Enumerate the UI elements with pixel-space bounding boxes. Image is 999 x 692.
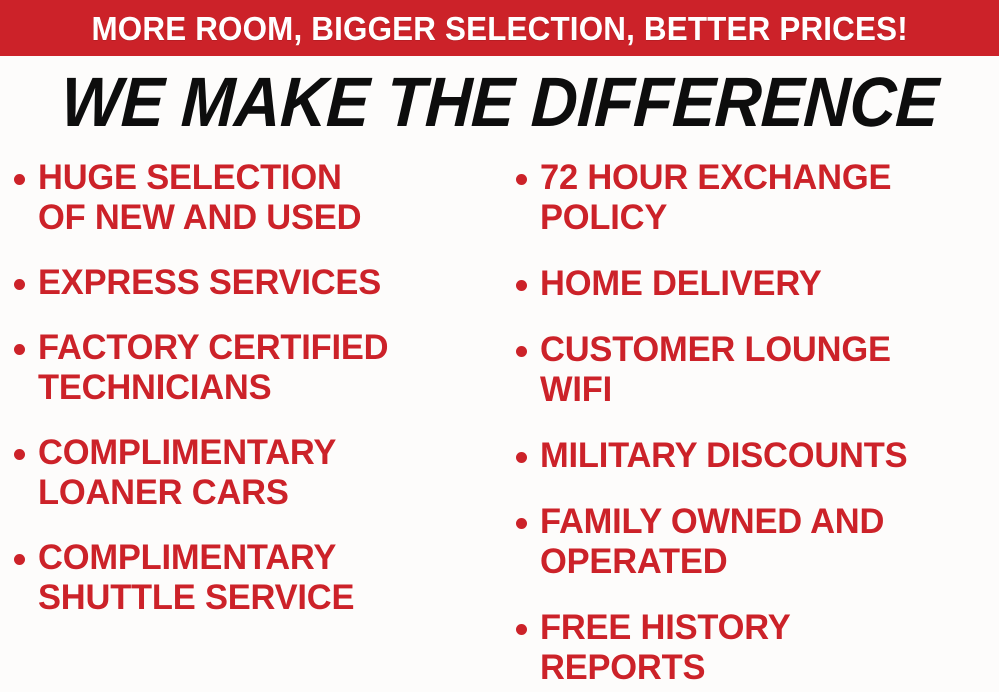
dealership-promo-poster: MORE ROOM, BIGGER SELECTION, BETTER PRIC… bbox=[0, 0, 999, 692]
list-item: COMPLIMENTARY SHUTTLE SERVICE bbox=[14, 538, 498, 618]
banner-headline-text: MORE ROOM, BIGGER SELECTION, BETTER PRIC… bbox=[91, 12, 907, 45]
list-item-label: EXPRESS SERVICES bbox=[38, 263, 381, 303]
list-item-label: FREE HISTORY REPORTS bbox=[540, 608, 790, 688]
main-headline: WE MAKE THE DIFFERENCE bbox=[59, 67, 940, 137]
benefits-columns: HUGE SELECTION OF NEW AND USED EXPRESS S… bbox=[0, 158, 999, 692]
bullet-dot-icon bbox=[14, 449, 25, 460]
list-item-label: COMPLIMENTARY SHUTTLE SERVICE bbox=[38, 538, 354, 618]
bullet-dot-icon bbox=[14, 344, 25, 355]
bullet-dot-icon bbox=[14, 554, 25, 565]
bullet-dot-icon bbox=[516, 624, 527, 635]
list-item-label: COMPLIMENTARY LOANER CARS bbox=[38, 433, 336, 513]
list-item: 72 HOUR EXCHANGE POLICY bbox=[516, 158, 999, 238]
benefits-column-left: HUGE SELECTION OF NEW AND USED EXPRESS S… bbox=[0, 158, 500, 643]
top-banner: MORE ROOM, BIGGER SELECTION, BETTER PRIC… bbox=[0, 0, 999, 56]
list-item: CUSTOMER LOUNGE WIFI bbox=[516, 330, 999, 410]
list-item: HOME DELIVERY bbox=[516, 264, 999, 304]
main-headline-container: WE MAKE THE DIFFERENCE bbox=[0, 62, 999, 142]
list-item: FREE HISTORY REPORTS bbox=[516, 608, 999, 688]
list-item-label: HUGE SELECTION OF NEW AND USED bbox=[38, 158, 361, 238]
benefits-column-right: 72 HOUR EXCHANGE POLICY HOME DELIVERY CU… bbox=[500, 158, 999, 692]
bullet-dot-icon bbox=[14, 174, 25, 185]
list-item-label: FACTORY CERTIFIED TECHNICIANS bbox=[38, 328, 388, 408]
bullet-dot-icon bbox=[516, 518, 527, 529]
bullet-dot-icon bbox=[516, 452, 527, 463]
list-item-label: CUSTOMER LOUNGE WIFI bbox=[540, 330, 891, 410]
list-item: EXPRESS SERVICES bbox=[14, 263, 498, 303]
list-item: MILITARY DISCOUNTS bbox=[516, 436, 999, 476]
bullet-dot-icon bbox=[14, 279, 25, 290]
list-item-label: HOME DELIVERY bbox=[540, 264, 822, 304]
list-item: COMPLIMENTARY LOANER CARS bbox=[14, 433, 498, 513]
bullet-dot-icon bbox=[516, 346, 527, 357]
list-item: FACTORY CERTIFIED TECHNICIANS bbox=[14, 328, 498, 408]
list-item: HUGE SELECTION OF NEW AND USED bbox=[14, 158, 498, 238]
list-item: FAMILY OWNED AND OPERATED bbox=[516, 502, 999, 582]
list-item-label: MILITARY DISCOUNTS bbox=[540, 436, 907, 476]
bullet-dot-icon bbox=[516, 174, 527, 185]
bullet-dot-icon bbox=[516, 280, 527, 291]
list-item-label: FAMILY OWNED AND OPERATED bbox=[540, 502, 884, 582]
list-item-label: 72 HOUR EXCHANGE POLICY bbox=[540, 158, 891, 238]
